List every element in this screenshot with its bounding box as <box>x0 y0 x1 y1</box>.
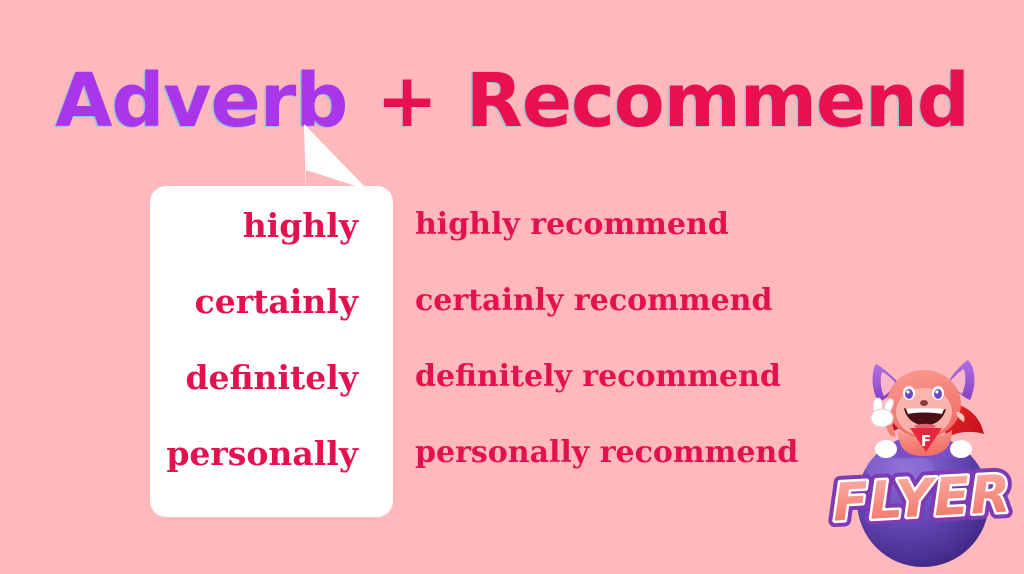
phrase-item-certainly-recommend: certainly recommend <box>415 283 855 359</box>
mascot-emblem-letter: F <box>921 432 931 450</box>
flyer-wordmark-fill: FLYER <box>831 464 1013 533</box>
phrase-item-personally-recommend: personally recommend <box>415 435 855 511</box>
phrase-list: highly recommend certainly recommend def… <box>415 186 855 517</box>
adverb-item-certainly: certainly <box>160 283 358 359</box>
adverb-item-highly: highly <box>160 207 358 283</box>
phrase-item-definitely-recommend: definitely recommend <box>415 359 855 435</box>
phrase-item-highly-recommend: highly recommend <box>415 207 855 283</box>
speech-bubble-card: highly certainly definitely personally <box>150 186 393 517</box>
title-word-recommend: Recommend <box>466 58 969 144</box>
title-plus-sign: + <box>372 58 441 144</box>
adverb-list: highly certainly definitely personally <box>150 186 393 517</box>
flyer-wordmark: FLYER FLYER FLYER <box>831 464 1013 533</box>
page-title: Adverb + Recommend <box>0 58 1024 144</box>
slide-canvas: Adverb + Recommend highly certainly defi… <box>0 0 1024 574</box>
mascot-hand-peace-sign <box>871 398 896 437</box>
flyer-mascot-logo: F FLYER FLYER FLYER <box>828 356 1018 574</box>
adverb-item-definitely: definitely <box>160 359 358 435</box>
adverb-item-personally: personally <box>160 435 358 511</box>
